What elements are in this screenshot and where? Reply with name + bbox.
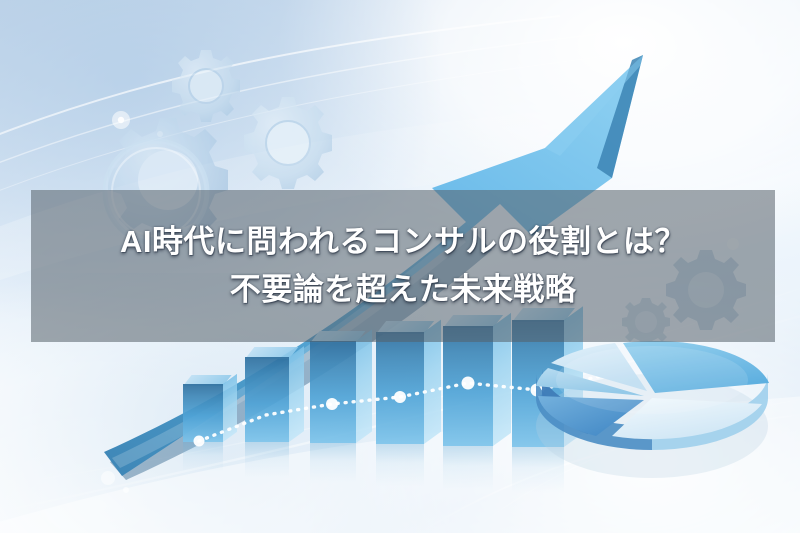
title-block: AI時代に問われるコンサルの役割とは？ 不要論を超えた未来戦略 bbox=[31, 190, 775, 342]
banner-canvas: AI時代に問われるコンサルの役割とは？ 不要論を超えた未来戦略 bbox=[0, 0, 800, 533]
trend-line-markers bbox=[194, 377, 544, 447]
pie-chart-3d bbox=[528, 330, 778, 480]
title-line-2: 不要論を超えた未来戦略 bbox=[230, 269, 577, 311]
title-line-1: AI時代に問われるコンサルの役割とは？ bbox=[120, 221, 686, 263]
